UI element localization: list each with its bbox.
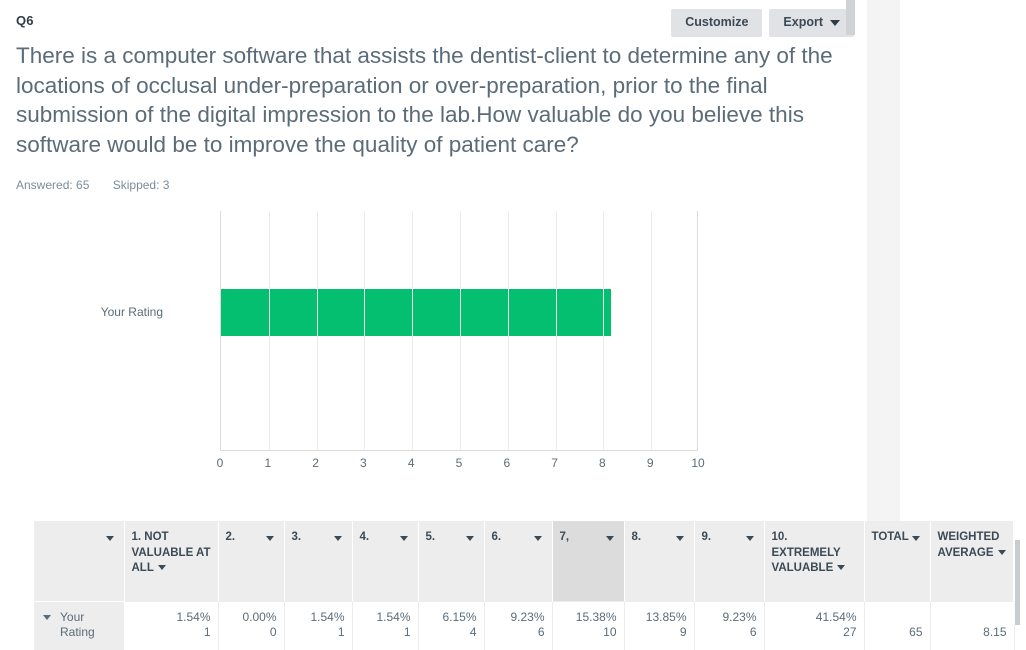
table-row: Your Rating1.54%10.00%01.54%11.54%16.15%… (34, 601, 1014, 650)
results-table-header-col-7[interactable]: 7, (552, 521, 624, 601)
vertical-scrollbar-thumb[interactable] (846, 0, 855, 35)
cell-percent: 9.23% (492, 610, 545, 625)
column-header-label: 6. (492, 531, 502, 543)
column-header-label: TOTAL (872, 531, 909, 543)
chart-gridline (603, 211, 604, 450)
data-cell: 15.38%10 (552, 601, 624, 650)
chart-gridline (364, 211, 365, 450)
data-cell: 6.15%4 (418, 601, 484, 650)
chevron-down-icon[interactable] (106, 536, 114, 541)
chart-x-tick-label: 8 (599, 456, 606, 470)
column-header-label: 8. (632, 531, 642, 543)
chevron-down-icon[interactable] (400, 536, 408, 541)
chart-category-label: Your Rating (101, 305, 163, 319)
chevron-down-icon[interactable] (606, 536, 614, 541)
data-cell: 9.23%6 (694, 601, 764, 650)
results-table-header-col-5[interactable]: 5. (418, 521, 484, 601)
results-table-header-col-3[interactable]: 3. (284, 521, 352, 601)
column-header-label: 3. (292, 531, 302, 543)
page-scrollbar[interactable] (1013, 500, 1022, 625)
chevron-down-icon[interactable] (912, 536, 920, 541)
customize-label: Customize (685, 16, 748, 29)
column-header-label: WEIGHTED AVERAGE (938, 531, 1000, 559)
results-table-header-col-2[interactable]: 2. (218, 521, 284, 601)
results-table-header-col-4[interactable]: 4. (352, 521, 418, 601)
chart-plot-area (220, 211, 698, 451)
cell-percent: 41.54% (772, 610, 857, 625)
chevron-down-icon[interactable] (746, 536, 754, 541)
column-header-label: 4. (360, 531, 370, 543)
row-label-cell[interactable]: Your Rating (34, 601, 124, 650)
cell-percent: 0.00% (226, 610, 277, 625)
chevron-down-icon[interactable] (837, 565, 845, 570)
customize-button[interactable]: Customize (671, 9, 762, 37)
results-table-header-col-1[interactable]: 1. NOT VALUABLE AT ALL (124, 521, 218, 601)
chart-gridline (556, 211, 557, 450)
data-cell: 1.54%1 (352, 601, 418, 650)
column-header-label: 1. NOT VALUABLE AT ALL (132, 531, 211, 574)
chart-gridline (460, 211, 461, 450)
question-result-card: Customize Export Q6 There is a computer … (0, 0, 867, 456)
data-cell: 41.54%27 (764, 601, 864, 650)
chevron-down-icon[interactable] (466, 536, 474, 541)
cell-percent: 1.54% (292, 610, 345, 625)
data-cell: 13.85%9 (624, 601, 694, 650)
chart-x-tick-label: 1 (264, 456, 271, 470)
results-table-header-col-9[interactable]: 9. (694, 521, 764, 601)
chart-x-tick-label: 0 (217, 456, 224, 470)
cell-percent: 6.15% (426, 610, 477, 625)
cell-count: 1 (292, 625, 345, 640)
cell-percent: 13.85% (632, 610, 687, 625)
results-table-body: Your Rating1.54%10.00%01.54%11.54%16.15%… (34, 601, 1014, 650)
chevron-down-icon (830, 20, 840, 26)
cell-count: 1 (132, 625, 211, 640)
results-table: 1. NOT VALUABLE AT ALL2.3.4.5.6.7,8.9.10… (34, 521, 1015, 650)
weighted-average-cell: 8.15 (930, 601, 1014, 650)
chevron-down-icon[interactable] (334, 536, 342, 541)
question-text: There is a computer software that assist… (16, 41, 851, 159)
data-cell: 1.54%1 (124, 601, 218, 650)
results-table-header-col-10[interactable]: 10. EXTREMELY VALUABLE (764, 521, 864, 601)
page-root: Customize Export Q6 There is a computer … (0, 0, 1026, 625)
cell-count: 4 (426, 625, 477, 640)
chart-x-tick-label: 5 (456, 456, 463, 470)
total-cell: 65 (864, 601, 930, 650)
chevron-down-icon[interactable] (158, 565, 166, 570)
cell-percent: 9.23% (702, 610, 757, 625)
column-header-label: 10. EXTREMELY VALUABLE (772, 531, 841, 574)
chevron-down-icon[interactable] (266, 536, 274, 541)
results-table-header-col-8[interactable]: 8. (624, 521, 694, 601)
answered-count: Answered: 65 (16, 178, 89, 192)
chart-x-tick-label: 10 (691, 456, 704, 470)
response-counts: Answered: 65 Skipped: 3 (16, 178, 851, 192)
results-table-header-col-6[interactable]: 6. (484, 521, 552, 601)
export-label: Export (783, 16, 823, 29)
row-label: Your Rating (60, 610, 95, 639)
chart-x-tick-label: 3 (360, 456, 367, 470)
page-scrollbar-thumb[interactable] (1015, 540, 1020, 625)
data-cell: 0.00%0 (218, 601, 284, 650)
cell-count: 6 (702, 625, 757, 640)
chart-x-tick-label: 4 (408, 456, 415, 470)
chart-gridline (269, 211, 270, 450)
chevron-down-icon[interactable] (534, 536, 542, 541)
column-header-label: 5. (426, 531, 436, 543)
cell-count: 10 (560, 625, 617, 640)
column-header-label: 7, (560, 531, 570, 543)
results-table-header-col-11[interactable]: TOTAL (864, 521, 930, 601)
chart-bar-your-rating[interactable] (221, 289, 611, 336)
chart-gridline (317, 211, 318, 450)
bar-chart: Your Rating 012345678910 (0, 206, 867, 456)
column-header-label: 9. (702, 531, 712, 543)
cell-count: 27 (772, 625, 857, 640)
cell-count: 1 (360, 625, 411, 640)
results-table-header-row: 1. NOT VALUABLE AT ALL2.3.4.5.6.7,8.9.10… (34, 521, 1014, 601)
data-cell: 1.54%1 (284, 601, 352, 650)
chart-gridline (508, 211, 509, 450)
results-table-wrap: 1. NOT VALUABLE AT ALL2.3.4.5.6.7,8.9.10… (34, 521, 1026, 650)
results-table-header-col-12[interactable]: WEIGHTED AVERAGE (930, 521, 1014, 601)
cell-percent: 15.38% (560, 610, 617, 625)
chart-x-tick-label: 2 (312, 456, 319, 470)
cell-percent: 1.54% (132, 610, 211, 625)
chevron-down-icon[interactable] (998, 550, 1006, 555)
chart-x-axis: 012345678910 (220, 456, 698, 476)
chart-gridline (651, 211, 652, 450)
chart-gridline (412, 211, 413, 450)
chart-x-tick-label: 6 (503, 456, 510, 470)
skipped-count: Skipped: 3 (113, 178, 170, 192)
cell-count: 6 (492, 625, 545, 640)
cell-percent: 1.54% (360, 610, 411, 625)
chevron-down-icon[interactable] (676, 536, 684, 541)
chart-x-tick-label: 9 (647, 456, 654, 470)
toolbar: Customize Export (671, 9, 854, 37)
cell-count: 9 (632, 625, 687, 640)
column-header-label: 2. (226, 531, 236, 543)
cell-count: 0 (226, 625, 277, 640)
chevron-down-icon[interactable] (43, 615, 51, 620)
results-table-header-row-toggle[interactable] (34, 521, 124, 601)
chart-x-tick-label: 7 (551, 456, 558, 470)
export-button[interactable]: Export (769, 9, 854, 37)
data-cell: 9.23%6 (484, 601, 552, 650)
